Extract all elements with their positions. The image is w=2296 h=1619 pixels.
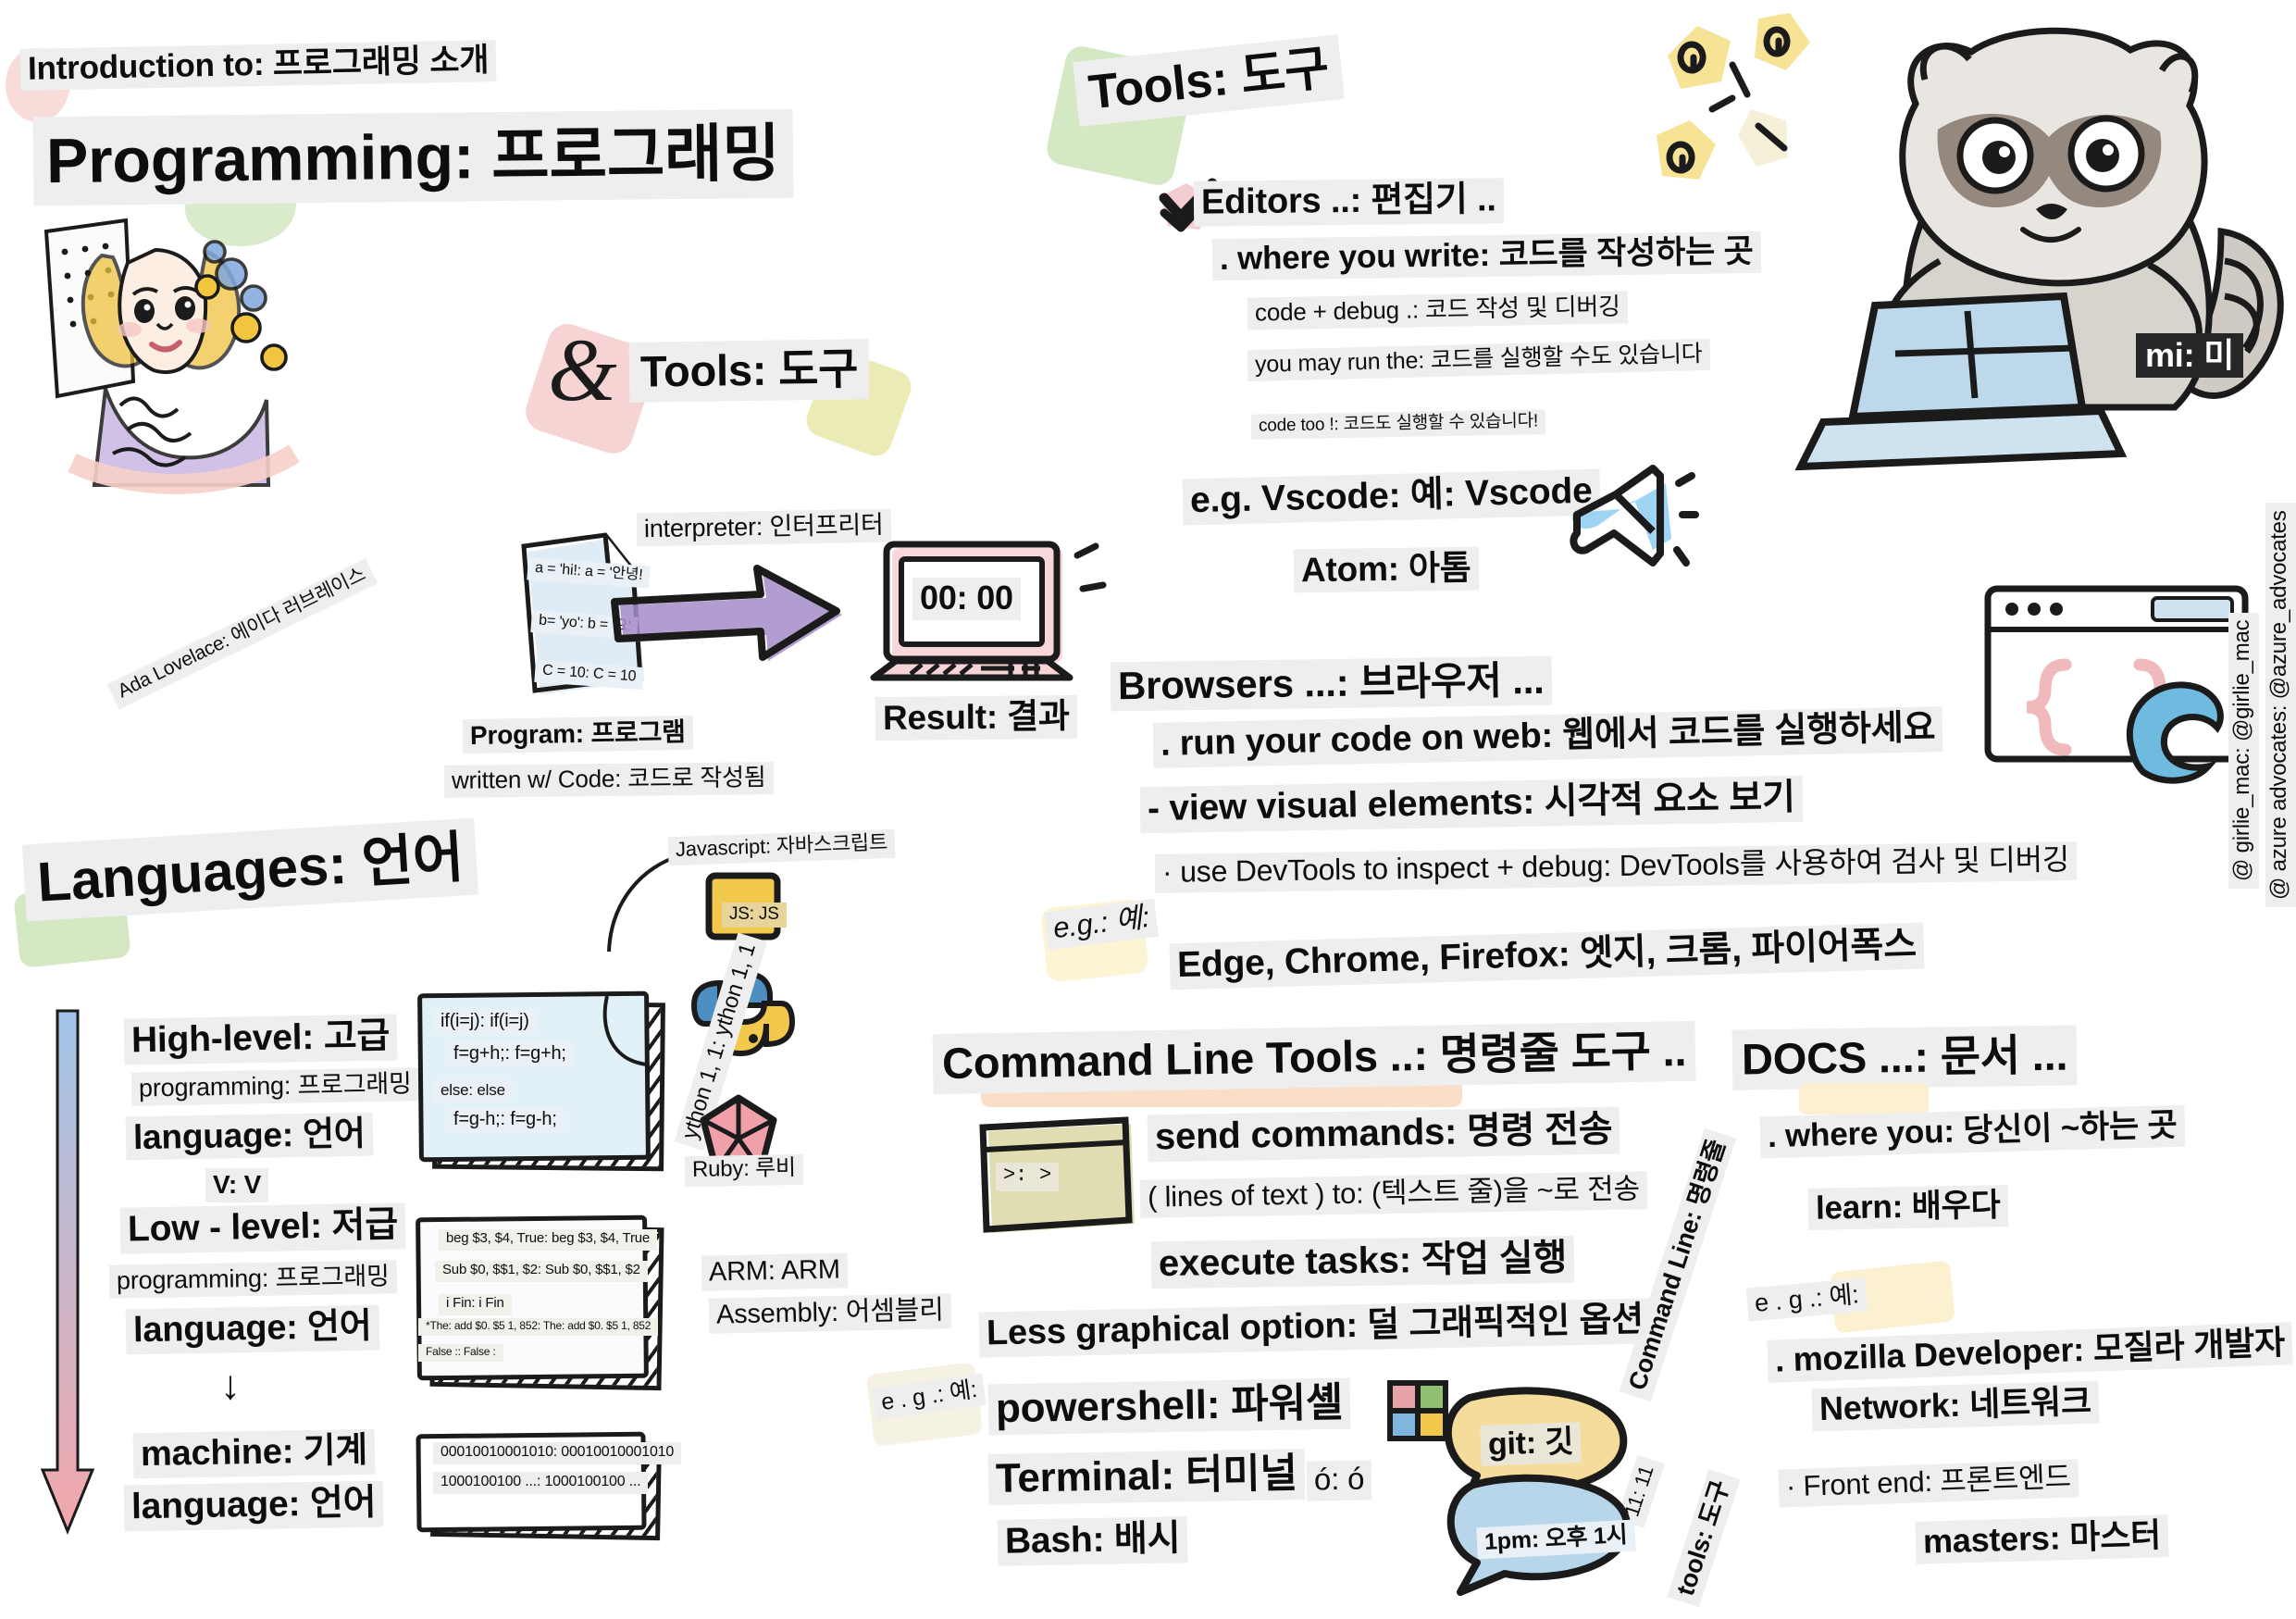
ada-lovelace-illustration — [17, 215, 322, 492]
intro-kicker: Introduction to: 프로그래밍 소개 — [20, 40, 497, 91]
cli-example-terminal: Terminal: 터미널 — [988, 1449, 1306, 1505]
language-level-low: Low - level: 저급 — [120, 1202, 406, 1253]
ruby-label: Ruby: 루비 — [685, 1154, 803, 1187]
docs-heading: DOCS ...: 문서 ... — [1732, 1025, 2078, 1090]
raccoon-badge: mi: 미 — [2136, 333, 2243, 378]
language-level-low-language: language: 언어 — [126, 1305, 379, 1354]
browsers-heading: Browsers ...: 브라우저 ... — [1111, 656, 1552, 712]
level-gradient-arrow — [39, 1007, 104, 1553]
terminal-prompt-text: >: > — [996, 1163, 1059, 1191]
binary-code-line-2: 1000100100 ...: 1000100100 ... — [433, 1472, 648, 1494]
down-arrow-icon: ↓ — [220, 1363, 241, 1409]
language-level-v: V: V — [205, 1168, 268, 1202]
edge-browser-icon — [2112, 670, 2232, 791]
docs-example-frontend: · Front end: 프론트엔드 — [1778, 1459, 2079, 1507]
high-level-code-line-3: else: else — [433, 1079, 513, 1102]
high-level-code-line-2: f=g+h;: f=g+h; — [446, 1041, 574, 1067]
binary-code-line-1: 00010010001010: 00010010001010 — [433, 1442, 681, 1464]
high-level-code-line-4: f=g-h;: f=g-h; — [446, 1107, 565, 1133]
sketchnote-canvas: Introduction to: 프로그래밍 소개 Programming: 프… — [0, 0, 2296, 1619]
high-level-code-line-1: if(i=j): if(i=j) — [433, 1009, 537, 1035]
language-level-high: High-level: 고급 — [124, 1014, 398, 1065]
result-screen-text: 00: 00 — [912, 578, 1021, 620]
editors-line-2: code + debug .: 코드 작성 및 디버깅 — [1247, 291, 1628, 330]
editors-example-vscode: e.g. Vscode: 예: Vscode — [1182, 469, 1600, 526]
result-label: Result: 결과 — [875, 695, 1077, 741]
assembly-code-line-3: i Fin: i Fin — [439, 1294, 512, 1315]
ada-label: Ada Lovelace: 에이다 러브레이스 — [107, 558, 378, 709]
git-bubble-text: git: 깃 — [1480, 1422, 1582, 1466]
language-level-machine: machine: 기계 — [133, 1429, 376, 1478]
interpreter-arrow-icon — [611, 565, 870, 685]
program-label: Program: 프로그램 — [463, 716, 693, 754]
assembly-code-line-1: beg $3, $4, True: beg $3, $4, True — [439, 1229, 657, 1251]
assembly-label: Assembly: 어셈블리 — [709, 1293, 951, 1334]
languages-heading: Languages: 언어 — [22, 818, 478, 922]
docs-example-masters: masters: 마스터 — [1915, 1514, 2168, 1564]
cli-heading: Command Line Tools ..: 명령줄 도구 .. — [932, 1021, 1695, 1094]
browsers-line-3: · use DevTools to inspect + debug: DevTo… — [1155, 841, 2078, 893]
cli-rotated-label-2: tools: 도구 — [1668, 1469, 1741, 1607]
program-sublabel: written w/ Code: 코드로 작성됨 — [444, 762, 774, 798]
cli-line-4: Less graphical option: 덜 그래픽적인 옵션 — [979, 1298, 1652, 1357]
raccoon-illustration — [1786, 19, 2296, 592]
browsers-line-2: - view visual elements: 시각적 요소 보기 — [1140, 776, 1804, 833]
cli-line-1: send commands: 명령 전송 — [1148, 1107, 1620, 1163]
js-note-label: JS: JS — [722, 903, 787, 928]
editors-line-1: . where you write: 코드를 작성하는 곳 — [1212, 231, 1761, 280]
credit-azure-advocates: @ azure advocates: @azure_advocates — [2265, 503, 2296, 907]
interpreter-label: interpreter: 인터프리터 — [637, 509, 891, 547]
editors-line-3: you may run the: 코드를 실행할 수도 있습니다 — [1247, 339, 1710, 381]
cli-line-3: execute tasks: 작업 실행 — [1151, 1236, 1575, 1289]
browsers-eg-value: Edge, Chrome, Firefox: 엣지, 크롬, 파이어폭스 — [1169, 923, 1924, 990]
assembly-code-line-5: False :: False : — [418, 1344, 503, 1362]
cli-example-bash: Bash: 배시 — [998, 1516, 1188, 1565]
vscode-icon — [1564, 461, 1694, 581]
language-level-high-language: language: 언어 — [126, 1113, 373, 1161]
editors-heading: Editors ..: 편집기 .. — [1194, 178, 1504, 226]
assembly-code-line-2: Sub $0, $$1, $2: Sub $0, $$1, $2 — [435, 1261, 648, 1282]
cli-line-2: ( lines of text ) to: (텍스트 줄)을 ~로 전송 — [1140, 1171, 1648, 1217]
docs-line-2: learn: 배우다 — [1808, 1185, 2008, 1230]
browsers-line-1: . run your code on web: 웹에서 코드를 실행하세요 — [1153, 706, 1943, 767]
terminal-clock-text: ó: ó — [1307, 1460, 1372, 1501]
editors-example-atom: Atom: 아톰 — [1294, 547, 1479, 593]
docs-heading-blob — [1799, 1083, 1929, 1115]
language-level-high-programming: programming: 프로그래밍 — [131, 1067, 419, 1106]
flow-tools-heading: Tools: 도구 — [629, 339, 870, 402]
language-level-low-programming: programming: 프로그래밍 — [109, 1260, 397, 1299]
tools-heading: Tools: 도구 — [1073, 34, 1345, 127]
cli-rotated-label: Command Line: 명령줄 — [1620, 1128, 1737, 1401]
credit-girlie-mac: @ girlie_mac: @girlie_mac — [2228, 613, 2259, 889]
editors-line-4: code too !: 코드도 실행할 수 있습니다! — [1251, 409, 1545, 440]
assembly-code-line-4: *The: add $0. $5 1, 852: The: add $0. $5… — [418, 1318, 658, 1336]
ampersand-icon: & — [548, 318, 617, 421]
cli-example-powershell: powershell: 파워셸 — [988, 1378, 1351, 1436]
page-title: Programming: 프로그래밍 — [33, 109, 794, 206]
arm-label: ARM: ARM — [701, 1252, 849, 1291]
docs-example-network: Network: 네트워크 — [1811, 1381, 2099, 1432]
language-level-machine-language: language: 언어 — [124, 1481, 384, 1532]
